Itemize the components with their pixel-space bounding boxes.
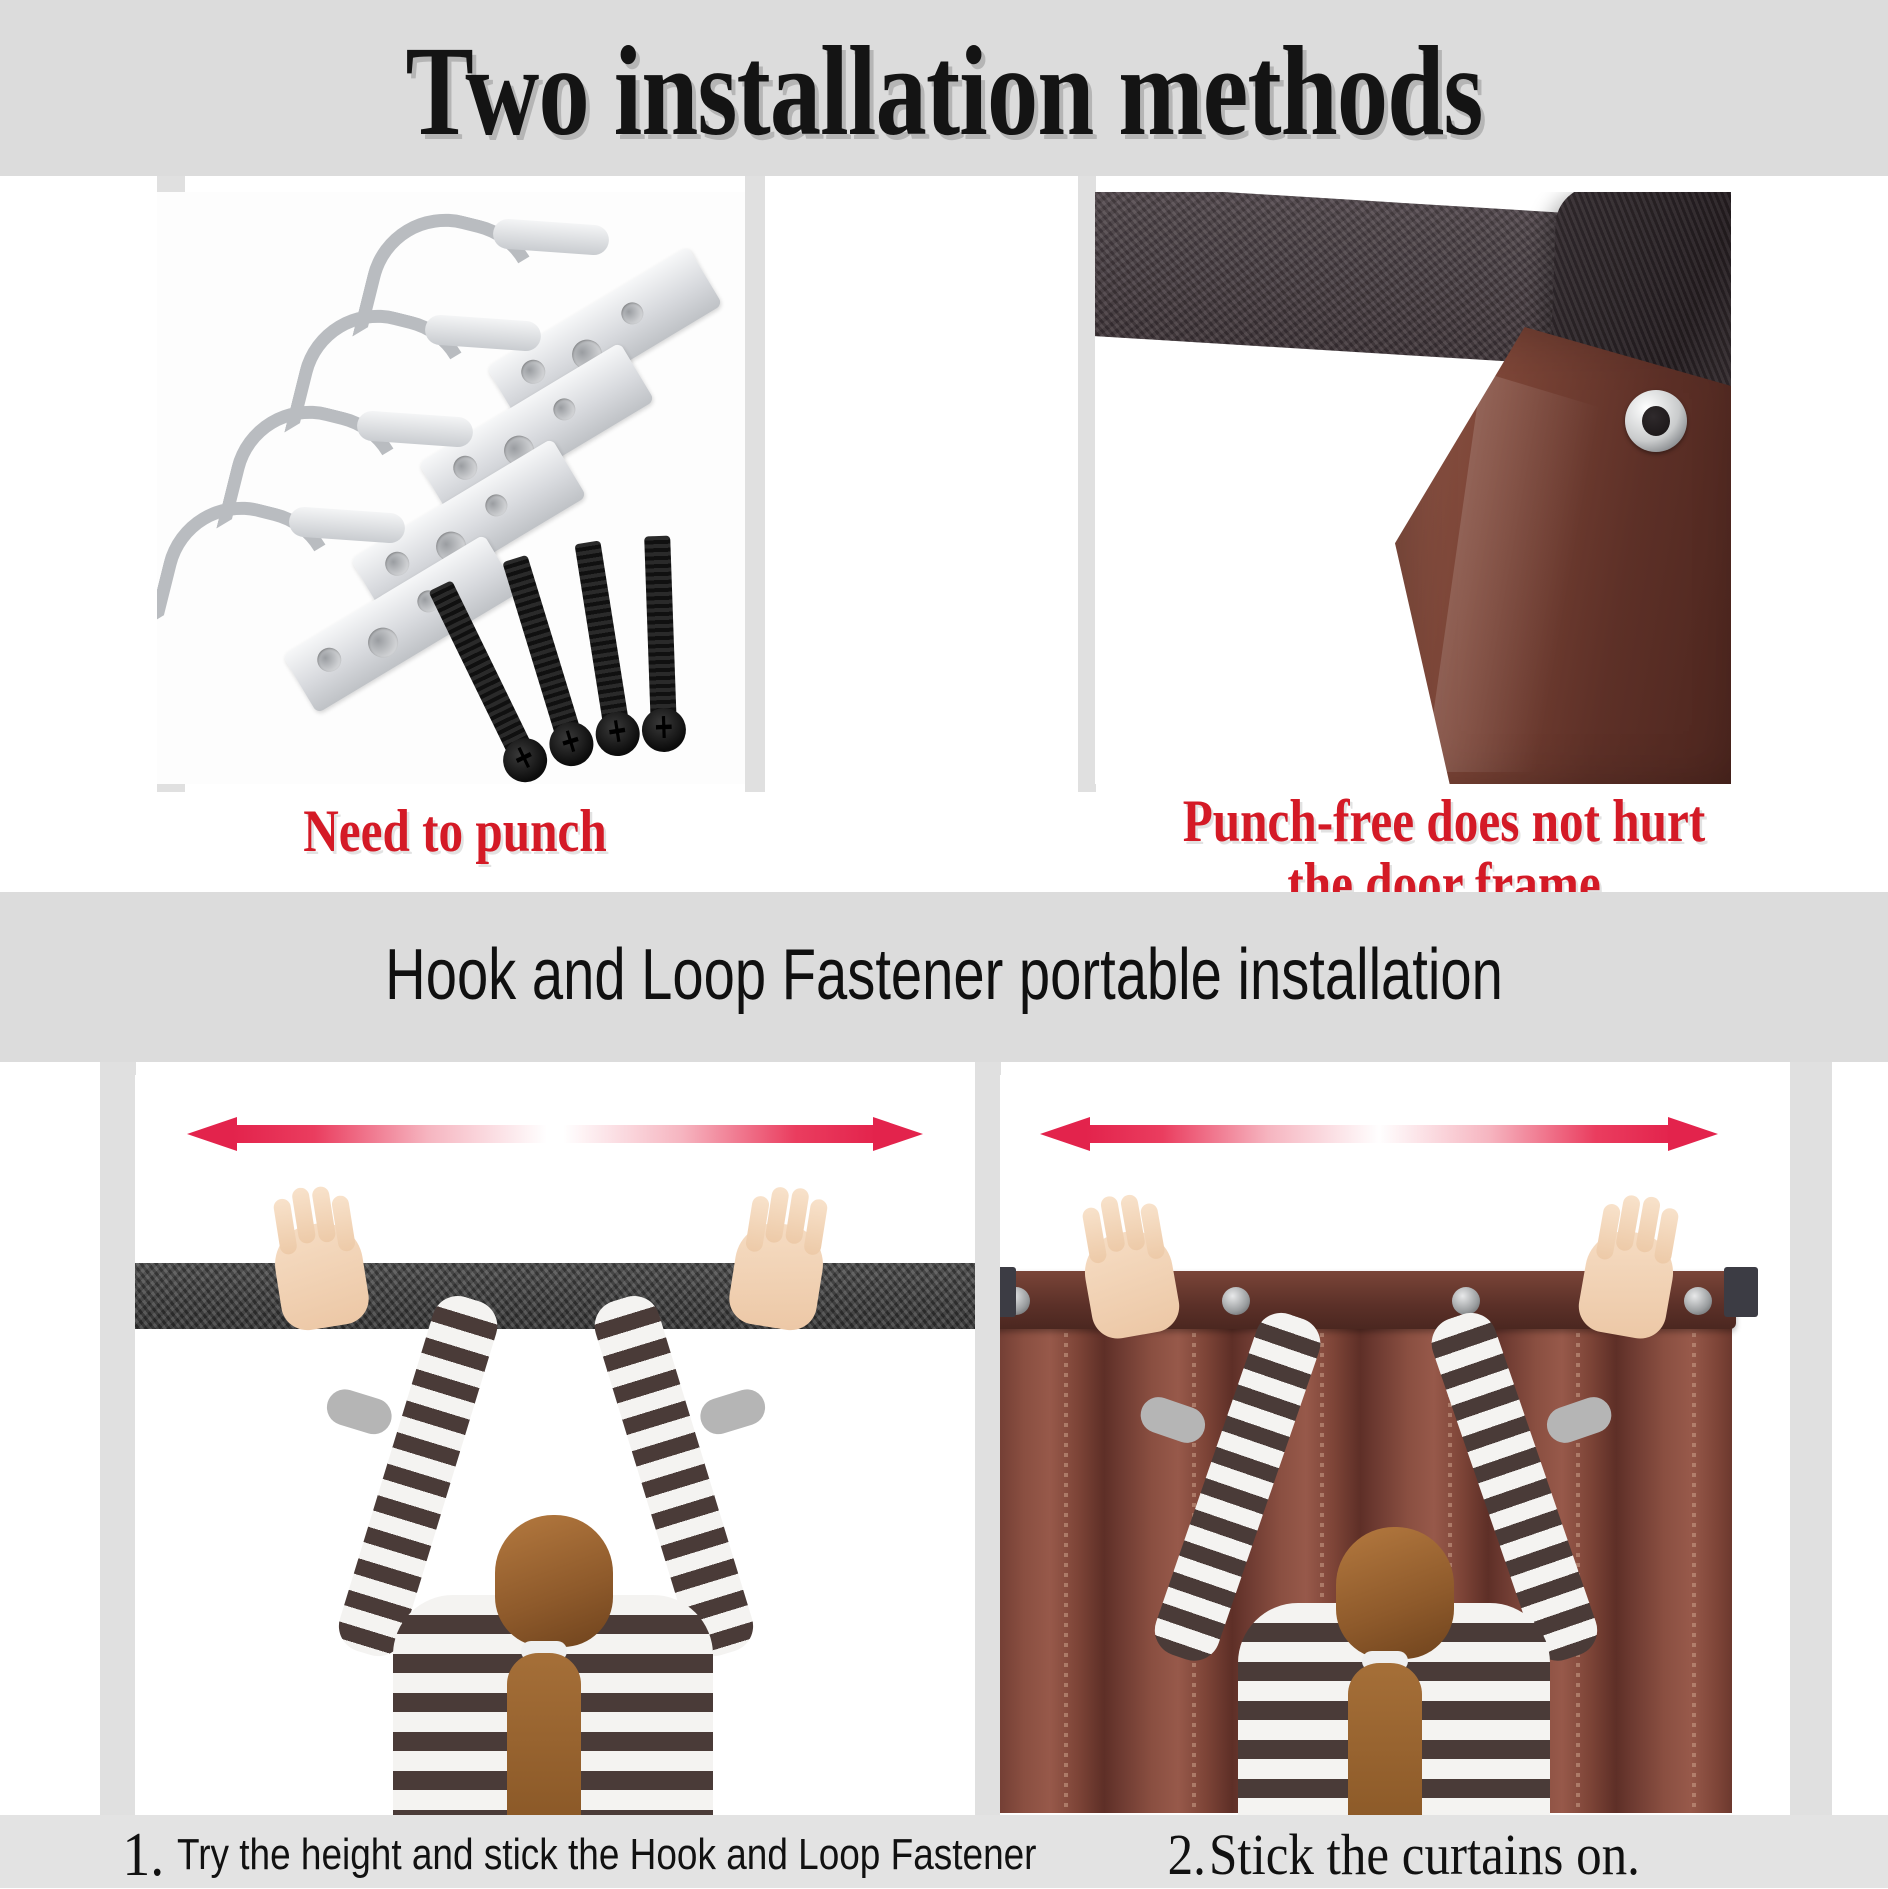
screw-4 [644,536,677,733]
step-1-text: Try the height and stick the Hook and Lo… [177,1832,1036,1878]
step-2-number: 2. [1168,1826,1206,1884]
grommet-icon [1222,1287,1250,1315]
head [1336,1527,1454,1659]
screw-3 [574,540,630,738]
rail-end-right [1724,1267,1758,1317]
photo-velcro-and-leather [1095,192,1731,784]
caption-need-to-punch: Need to punch [131,800,779,863]
photo-step-1 [135,1075,975,1815]
caption-step-1: 1. Try the height and stick the Hook and… [120,1822,1200,1888]
mid-band-heading: Hook and Loop Fastener portable installa… [208,910,1681,1040]
arrow-left-icon [1040,1117,1380,1151]
screws-group [489,492,745,782]
rail-end-left [1000,1267,1016,1317]
page-title: Two installation methods [189,16,1699,166]
hand-left [269,1217,372,1333]
gutter-mid-bottom [975,1062,1001,1818]
leather-highlight [1425,372,1615,772]
grommet-icon [1684,1287,1712,1315]
arrow-left-icon [187,1117,547,1151]
photo-hooks-and-screws [157,192,745,784]
gutter-right-bottom [1790,1062,1832,1818]
ponytail [1348,1663,1422,1815]
gutter-left-bottom [100,1062,136,1818]
infographic-page: Two installation methods [0,0,1888,1888]
cuff-left [322,1385,396,1439]
step-1-number: 1. [122,1824,164,1886]
hand-left [1079,1225,1184,1343]
photo-step-2 [1000,1075,1790,1815]
hand-right [726,1217,829,1333]
arrow-row-step2 [1000,1099,1790,1195]
arrow-row-step1 [135,1099,975,1195]
caption-step-2: 2. Stick the curtains on. [1165,1822,1698,1888]
gutter-mid-top-b [1078,176,1096,792]
caption-punch-free-line1: Punch-free does not hurt [1080,790,1808,853]
grommet-icon [1625,390,1687,452]
gutter-mid-top-a [745,176,765,792]
step-2-text: Stick the curtains on. [1209,1826,1640,1884]
grommet-icon [1452,1287,1480,1315]
head [495,1515,613,1647]
cuff-right [696,1385,770,1439]
arrow-right-icon [563,1117,923,1151]
hook-loop-strip [135,1263,975,1329]
ponytail [507,1653,581,1815]
arrow-right-icon [1378,1117,1718,1151]
